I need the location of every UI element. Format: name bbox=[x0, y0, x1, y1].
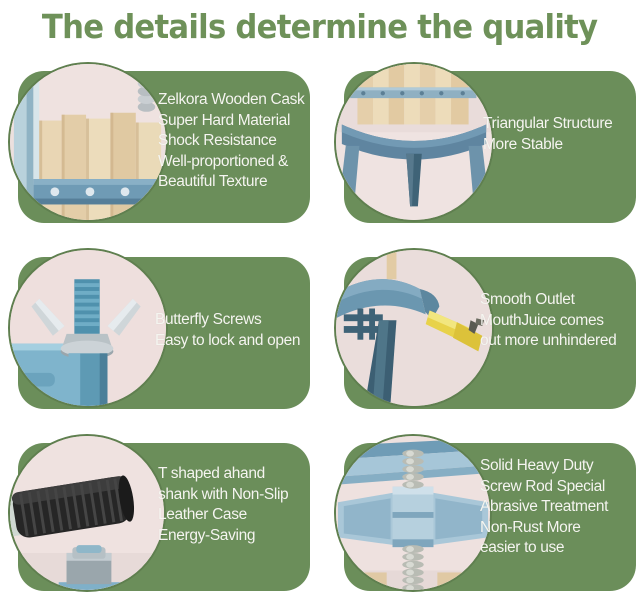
t-handle-leather-grip-photo bbox=[8, 434, 166, 592]
page-title-text: The details determine the quality bbox=[42, 10, 597, 43]
panel-6-text: Solid Heavy Duty Screw Rod Special Abras… bbox=[480, 456, 640, 559]
panel-3-text: Butterfly Screws Easy to lock and open bbox=[155, 310, 323, 351]
screw-rod-artwork bbox=[336, 436, 490, 590]
feature-panel-2: Triangular Structure More Stable bbox=[320, 62, 640, 232]
tripod-base-artwork bbox=[336, 64, 492, 220]
outlet-spout-artwork bbox=[336, 250, 492, 406]
butterfly-screw-photo bbox=[8, 248, 168, 408]
feature-panel-5: T shaped ahand shank with Non-Slip Leath… bbox=[0, 434, 320, 599]
cask-slats-artwork bbox=[10, 64, 166, 220]
panel-1-text: Zelkora Wooden Cask Super Hard Material … bbox=[158, 90, 318, 193]
feature-panel-6: Solid Heavy Duty Screw Rod Special Abras… bbox=[320, 434, 640, 599]
feature-panel-1: Zelkora Wooden Cask Super Hard Material … bbox=[0, 62, 320, 232]
handle-grip-artwork bbox=[10, 436, 164, 590]
triangular-base-legs-photo bbox=[334, 62, 494, 222]
yellow-outlet-spout-photo bbox=[334, 248, 494, 408]
panel-2-text: Triangular Structure More Stable bbox=[483, 114, 638, 155]
panel-4-text: Smooth Outlet MouthJuice comes out more … bbox=[480, 290, 640, 352]
panel-5-text: T shaped ahand shank with Non-Slip Leath… bbox=[158, 464, 318, 546]
wooden-cask-slats-photo bbox=[8, 62, 168, 222]
feature-panel-3: Butterfly Screws Easy to lock and open bbox=[0, 248, 320, 418]
page-title: The details determine the quality bbox=[0, 0, 640, 52]
screw-rod-crossbar-photo bbox=[334, 434, 492, 592]
feature-panel-4: Smooth Outlet MouthJuice comes out more … bbox=[320, 248, 640, 418]
infographic-page: The details determine the quality bbox=[0, 0, 640, 599]
butterfly-screw-artwork bbox=[10, 250, 166, 406]
